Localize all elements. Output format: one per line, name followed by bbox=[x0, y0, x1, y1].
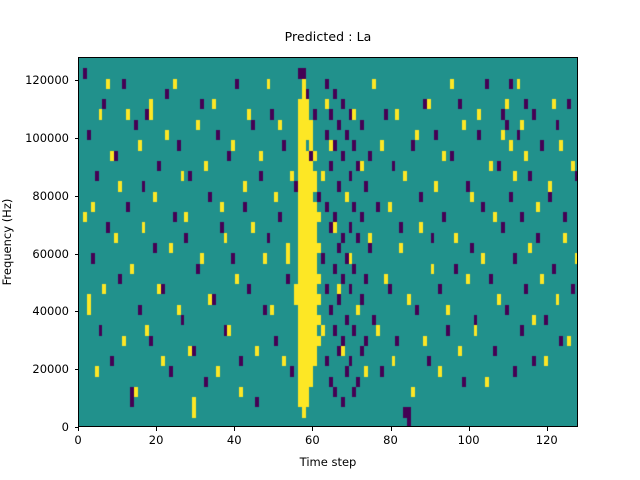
x-tick-label: 80 bbox=[383, 433, 398, 447]
matplotlib-figure: Predicted : La 020406080100120 020000400… bbox=[0, 0, 640, 480]
y-tick-mark bbox=[75, 138, 79, 139]
x-tick-label: 0 bbox=[74, 433, 81, 447]
y-tick-label: 20000 bbox=[0, 362, 69, 376]
y-tick-mark bbox=[75, 80, 79, 81]
heatmap-image bbox=[79, 58, 578, 427]
y-tick-mark bbox=[75, 196, 79, 197]
x-tick-label: 20 bbox=[149, 433, 164, 447]
x-tick-mark bbox=[78, 427, 79, 431]
x-tick-mark bbox=[469, 427, 470, 431]
heatmap-plot-area[interactable] bbox=[78, 57, 578, 427]
x-tick-label: 100 bbox=[458, 433, 480, 447]
x-tick-mark bbox=[234, 427, 235, 431]
y-tick-mark bbox=[75, 427, 79, 428]
y-tick-label: 0 bbox=[0, 420, 69, 434]
y-tick-mark bbox=[75, 369, 79, 370]
y-axis-label: Frequency (Hz) bbox=[0, 142, 14, 342]
x-tick-mark bbox=[156, 427, 157, 431]
chart-title: Predicted : La bbox=[78, 29, 578, 44]
x-tick-mark bbox=[312, 427, 313, 431]
x-tick-label: 60 bbox=[305, 433, 320, 447]
x-tick-mark bbox=[547, 427, 548, 431]
x-tick-label: 120 bbox=[536, 433, 558, 447]
y-tick-mark bbox=[75, 254, 79, 255]
x-tick-label: 40 bbox=[227, 433, 242, 447]
x-tick-mark bbox=[391, 427, 392, 431]
x-axis-label: Time step bbox=[78, 455, 578, 469]
y-tick-mark bbox=[75, 311, 79, 312]
y-tick-label: 120000 bbox=[0, 73, 69, 87]
